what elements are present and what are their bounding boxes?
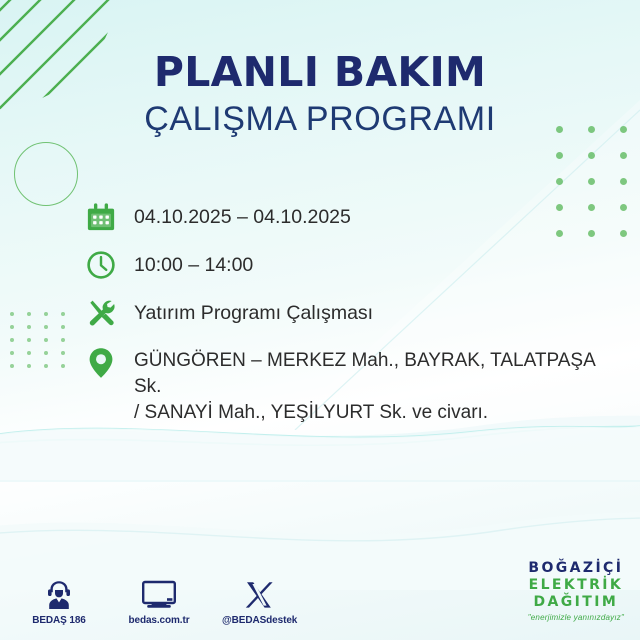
bedas-logo: BOĞAZİÇİ ELEKTRİK DAĞITIM "enerjimizle y… bbox=[528, 561, 624, 622]
detail-date-value: 04.10.2025 – 04.10.2025 bbox=[134, 200, 351, 231]
map-pin-icon bbox=[84, 344, 118, 380]
footer-contact-list: BEDAŞ 186 bedas.com.tr bbox=[22, 576, 296, 628]
detail-row-work-type: Yatırım Programı Çalışması bbox=[84, 296, 616, 330]
page-subtitle: ÇALIŞMA PROGRAMI bbox=[0, 101, 640, 138]
circle-outline-decor bbox=[14, 142, 78, 206]
contact-phone-label: BEDAŞ 186 bbox=[32, 615, 86, 626]
brand-tagline: "enerjimizle yanınızdayız" bbox=[528, 614, 624, 622]
brand-line-3: DAĞITIM bbox=[528, 595, 624, 609]
calendar-icon bbox=[84, 200, 118, 234]
detail-work-type-value: Yatırım Programı Çalışması bbox=[134, 296, 373, 327]
brand-line-2: ELEKTRİK bbox=[528, 578, 624, 592]
poster-footer: BEDAŞ 186 bedas.com.tr bbox=[0, 544, 640, 640]
detail-row-date: 04.10.2025 – 04.10.2025 bbox=[84, 200, 616, 234]
page-title: PLANLI BAKIM bbox=[0, 52, 640, 93]
contact-social-x[interactable]: @BEDASdestek bbox=[222, 576, 296, 628]
brand-line-1: BOĞAZİÇİ bbox=[528, 561, 624, 575]
clock-icon bbox=[84, 248, 118, 282]
section-divider-wave bbox=[0, 410, 640, 480]
poster-title-block: PLANLI BAKIM ÇALIŞMA PROGRAMI bbox=[0, 52, 640, 138]
dot-grid-left bbox=[10, 312, 78, 377]
detail-time-value: 10:00 – 14:00 bbox=[134, 248, 253, 279]
contact-social-label: @BEDASdestek bbox=[222, 615, 297, 626]
monitor-icon bbox=[122, 576, 196, 610]
tools-icon bbox=[84, 296, 118, 330]
detail-row-time: 10:00 – 14:00 bbox=[84, 248, 616, 282]
planned-maintenance-poster: PLANLI BAKIM ÇALIŞMA PROGRAMI bbox=[0, 0, 640, 640]
x-twitter-icon bbox=[222, 576, 296, 610]
contact-website-label: bedas.com.tr bbox=[128, 615, 189, 626]
headset-operator-icon bbox=[22, 576, 96, 610]
contact-website[interactable]: bedas.com.tr bbox=[122, 576, 196, 628]
maintenance-details-list: 04.10.2025 – 04.10.2025 10:00 – 14:00 bbox=[84, 200, 616, 441]
contact-phone[interactable]: BEDAŞ 186 bbox=[22, 576, 96, 628]
